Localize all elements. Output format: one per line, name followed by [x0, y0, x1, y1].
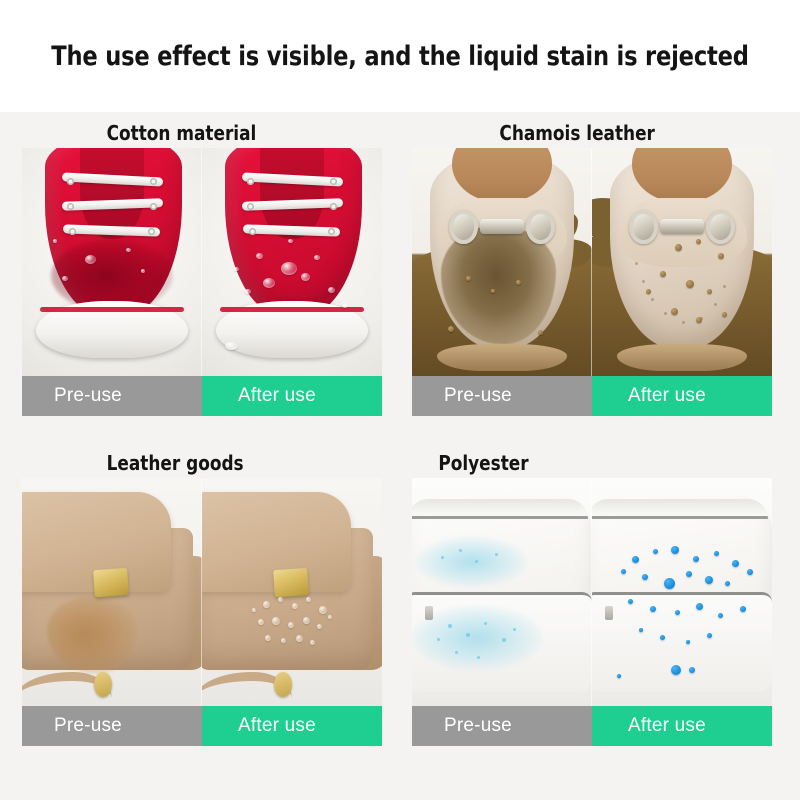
- caption-before-leather: Pre-use: [22, 706, 202, 746]
- photo-pair-polyester: [412, 478, 772, 706]
- comparison-grid: Cotton material: [0, 112, 800, 800]
- infographic-page: The use effect is visible, and the liqui…: [0, 0, 800, 800]
- panel-cotton-material: Cotton material: [22, 112, 382, 416]
- photo-cotton-after: [202, 148, 382, 376]
- header-banner: The use effect is visible, and the liqui…: [0, 0, 800, 112]
- panel-label-cotton: Cotton material: [22, 112, 360, 148]
- caption-bar-chamois: Pre-use After use: [412, 376, 772, 416]
- caption-bar-leather: Pre-use After use: [22, 706, 382, 746]
- panel-leather-goods: Leather goods: [22, 442, 382, 746]
- photo-polyester-after: [592, 478, 772, 706]
- photo-pair-leather: [22, 478, 382, 706]
- panel-chamois-leather: Chamois leather: [412, 112, 772, 416]
- photo-cotton-before: [22, 148, 202, 376]
- panel-label-chamois: Chamois leather: [412, 112, 750, 148]
- caption-after-polyester: After use: [592, 706, 772, 746]
- caption-before-cotton: Pre-use: [22, 376, 202, 416]
- panel-label-leather: Leather goods: [22, 442, 360, 478]
- caption-bar-polyester: Pre-use After use: [412, 706, 772, 746]
- page-title: The use effect is visible, and the liqui…: [51, 41, 749, 72]
- photo-pair-chamois: [412, 148, 772, 376]
- photo-polyester-before: [412, 478, 592, 706]
- caption-after-cotton: After use: [202, 376, 382, 416]
- photo-leather-after: [202, 478, 382, 706]
- caption-bar-cotton: Pre-use After use: [22, 376, 382, 416]
- caption-after-chamois: After use: [592, 376, 772, 416]
- panel-polyester: Polyester: [412, 442, 772, 746]
- caption-before-chamois: Pre-use: [412, 376, 592, 416]
- caption-before-polyester: Pre-use: [412, 706, 592, 746]
- photo-leather-before: [22, 478, 202, 706]
- photo-chamois-before: [412, 148, 592, 376]
- photo-chamois-after: [592, 148, 772, 376]
- panel-label-polyester: Polyester: [412, 442, 750, 478]
- caption-after-leather: After use: [202, 706, 382, 746]
- photo-pair-cotton: [22, 148, 382, 376]
- horsebit-hardware: [437, 210, 567, 244]
- horsebit-hardware: [617, 210, 747, 244]
